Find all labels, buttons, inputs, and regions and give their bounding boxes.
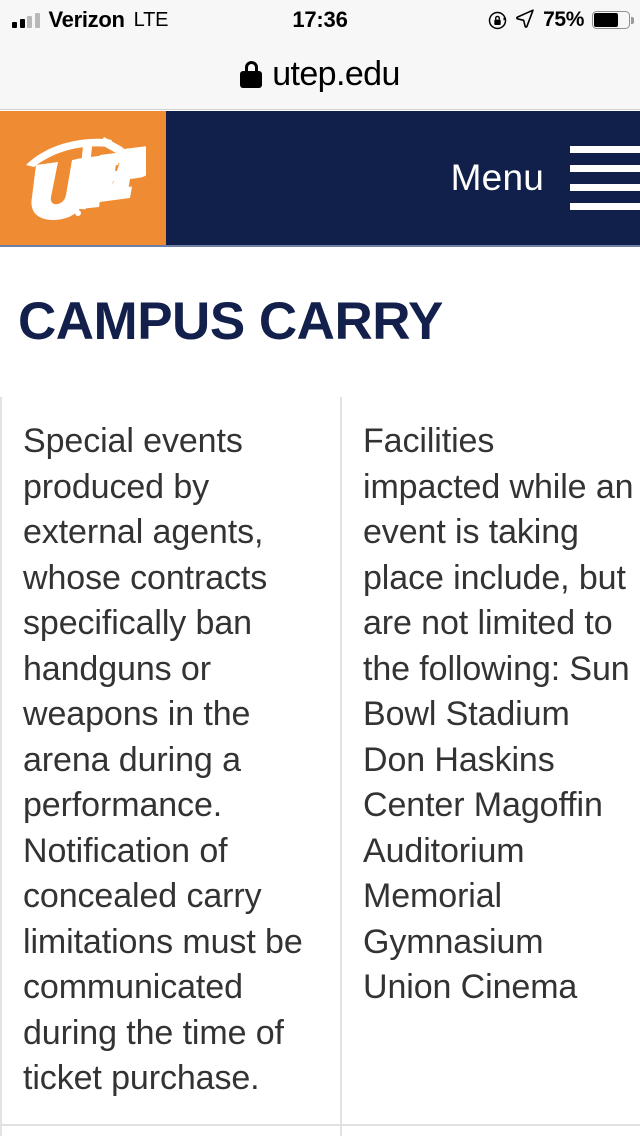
status-bar-right-group: 75% [488, 0, 630, 40]
rotation-lock-icon [488, 11, 507, 30]
hamburger-menu-icon[interactable] [570, 146, 640, 210]
mobile-browser-screen: Verizon LTE 17:36 75% [0, 0, 640, 1136]
table-cell-facilities-impacted: Facilities impacted while an event is ta… [340, 397, 640, 1126]
lock-icon [240, 61, 262, 89]
battery-icon [592, 11, 630, 29]
table-row: Special events produced by external agen… [0, 397, 640, 1126]
site-header: Menu [0, 111, 640, 247]
utep-logo-link[interactable] [0, 111, 166, 245]
battery-percent-label: 75% [543, 8, 584, 32]
menu-button-label[interactable]: Menu [451, 157, 544, 199]
ios-status-bar: Verizon LTE 17:36 75% [0, 0, 640, 40]
location-arrow-icon [515, 8, 535, 33]
page-title: CAMPUS CARRY [18, 295, 443, 348]
table-cell-empty-left [0, 1126, 340, 1136]
browser-address-bar[interactable]: utep.edu [0, 40, 640, 110]
header-menu-area: Menu [166, 111, 640, 245]
table-row [0, 1126, 640, 1136]
table-cell-empty-right [340, 1126, 640, 1136]
table-cell-special-events: Special events produced by external agen… [0, 397, 340, 1126]
url-label: utep.edu [272, 55, 400, 94]
content-table: Special events produced by external agen… [0, 397, 640, 1136]
utep-logo-icon [20, 135, 146, 221]
